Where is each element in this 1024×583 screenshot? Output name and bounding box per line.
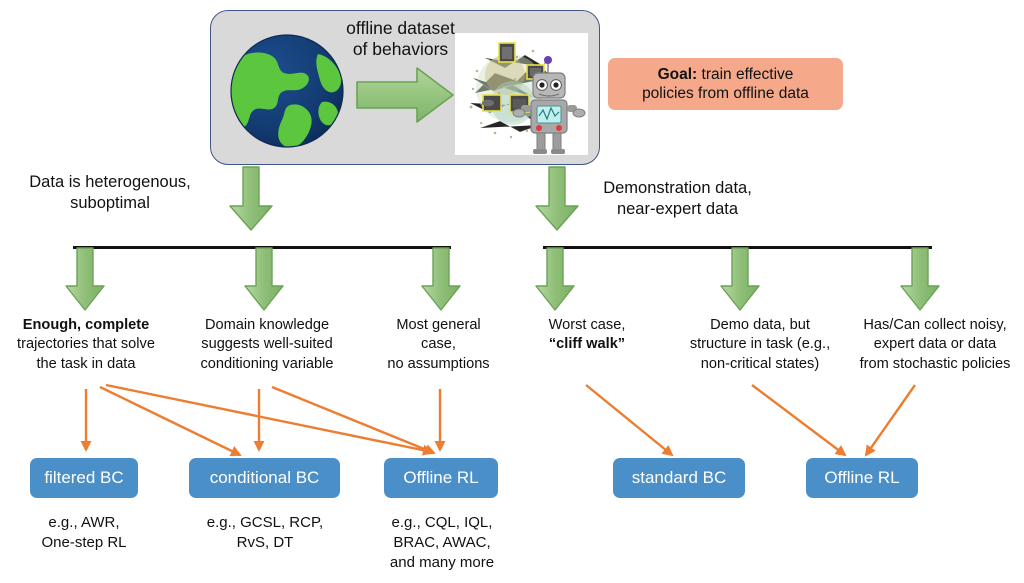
examples-conditional-bc-line1: e.g., GCSL, RCP, xyxy=(207,514,323,531)
diagram-canvas: offline dataset of behaviors xyxy=(0,0,1024,583)
green-arrow-col-6 xyxy=(899,248,941,312)
green-arrow-col-4 xyxy=(534,248,576,312)
col3-line3: no assumptions xyxy=(387,356,489,372)
col1-line2: trajectories that solve xyxy=(17,336,155,352)
orange-arrow-col6-to-offline-rl xyxy=(866,385,915,455)
col4-bold: “cliff walk” xyxy=(549,336,625,352)
goal-label-line2: policies from offline data xyxy=(642,85,809,102)
branch-label-right: Demonstration data, near-expert data xyxy=(575,178,780,219)
goal-callout: Goal: train effective policies from offl… xyxy=(608,58,843,110)
branch-label-right-line1: Demonstration data, xyxy=(603,179,752,197)
orange-arrow-col2-to-offline-rl xyxy=(272,387,434,453)
examples-offline-rl-line2: BRAC, AWAC, xyxy=(393,534,490,551)
branch-label-left-line2: suboptimal xyxy=(70,194,150,212)
method-box-conditional-bc[interactable]: conditional BC xyxy=(189,458,340,498)
col5-line1: Demo data, but xyxy=(710,317,810,333)
column-desc-worst-case: Worst case, “cliff walk” xyxy=(528,316,646,355)
examples-filtered-bc-line1: e.g., AWR, xyxy=(48,514,119,531)
method-box-offline-rl-right[interactable]: Offline RL xyxy=(806,458,918,498)
orange-arrow-col1-to-conditional-bc xyxy=(100,387,240,455)
col1-bold: Enough, complete xyxy=(23,317,149,333)
branch-label-left-line1: Data is heterogenous, xyxy=(29,173,190,191)
examples-offline-rl-line3: and many more xyxy=(390,554,494,571)
examples-conditional-bc: e.g., GCSL, RCP, RvS, DT xyxy=(186,513,344,553)
green-arrow-col-3 xyxy=(420,248,462,312)
col5-line3: non-critical states) xyxy=(701,356,819,372)
green-arrow-col-1 xyxy=(64,248,106,312)
orange-arrow-col1-to-offline-rl xyxy=(106,385,432,452)
method-box-standard-bc-label: standard BC xyxy=(632,468,727,488)
col2-line3: conditioning variable xyxy=(200,356,333,372)
method-box-conditional-bc-label: conditional BC xyxy=(210,468,320,488)
method-box-filtered-bc-label: filtered BC xyxy=(44,468,123,488)
column-desc-enough-complete: Enough, complete trajectories that solve… xyxy=(0,316,172,374)
col5-line2: structure in task (e.g., xyxy=(690,336,830,352)
method-box-offline-rl-left[interactable]: Offline RL xyxy=(384,458,498,498)
examples-offline-rl-line1: e.g., CQL, IQL, xyxy=(392,514,493,531)
examples-conditional-bc-line2: RvS, DT xyxy=(237,534,294,551)
green-block-arrow-icon xyxy=(355,66,455,124)
green-arrow-col-2 xyxy=(243,248,285,312)
method-box-standard-bc[interactable]: standard BC xyxy=(613,458,745,498)
col4-line1: Worst case, xyxy=(549,317,626,333)
orange-arrow-col5-to-offline-rl xyxy=(752,385,845,455)
branch-label-left: Data is heterogenous, suboptimal xyxy=(5,172,215,213)
col3-line1: Most general xyxy=(396,317,480,333)
method-box-offline-rl-right-label: Offline RL xyxy=(824,468,899,488)
column-desc-domain-knowledge: Domain knowledge suggests well-suited co… xyxy=(176,316,358,374)
green-arrow-to-left-branch xyxy=(228,166,274,232)
dataset-network-image xyxy=(455,33,588,155)
col6-line1: Has/Can collect noisy, xyxy=(863,317,1006,333)
dataset-caption-line2: of behaviors xyxy=(353,39,448,59)
examples-filtered-bc: e.g., AWR, One-step RL xyxy=(10,513,158,553)
col6-line2: expert data or data xyxy=(874,336,997,352)
branch-label-right-line2: near-expert data xyxy=(617,200,738,218)
column-desc-most-general: Most general case, no assumptions xyxy=(372,316,505,374)
green-arrow-to-right-branch xyxy=(534,166,580,232)
goal-label-rest: train effective xyxy=(697,66,793,83)
col1-line3: the task in data xyxy=(37,356,136,372)
dataset-caption-line1: offline dataset xyxy=(346,18,455,38)
col2-line2: suggests well-suited xyxy=(201,336,332,352)
green-arrow-col-5 xyxy=(719,248,761,312)
examples-filtered-bc-line2: One-step RL xyxy=(41,534,126,551)
examples-offline-rl: e.g., CQL, IQL, BRAC, AWAC, and many mor… xyxy=(373,513,511,573)
column-desc-noisy-expert: Has/Can collect noisy, expert data or da… xyxy=(845,316,1024,374)
goal-label-bold: Goal: xyxy=(658,66,698,83)
column-desc-demo-structure: Demo data, but structure in task (e.g., … xyxy=(670,316,850,374)
method-box-offline-rl-left-label: Offline RL xyxy=(403,468,478,488)
col2-line1: Domain knowledge xyxy=(205,317,329,333)
col6-line3: from stochastic policies xyxy=(860,356,1011,372)
col3-line2: case, xyxy=(421,336,456,352)
orange-arrow-col4-to-standard-bc xyxy=(586,385,672,455)
method-box-filtered-bc[interactable]: filtered BC xyxy=(30,458,138,498)
